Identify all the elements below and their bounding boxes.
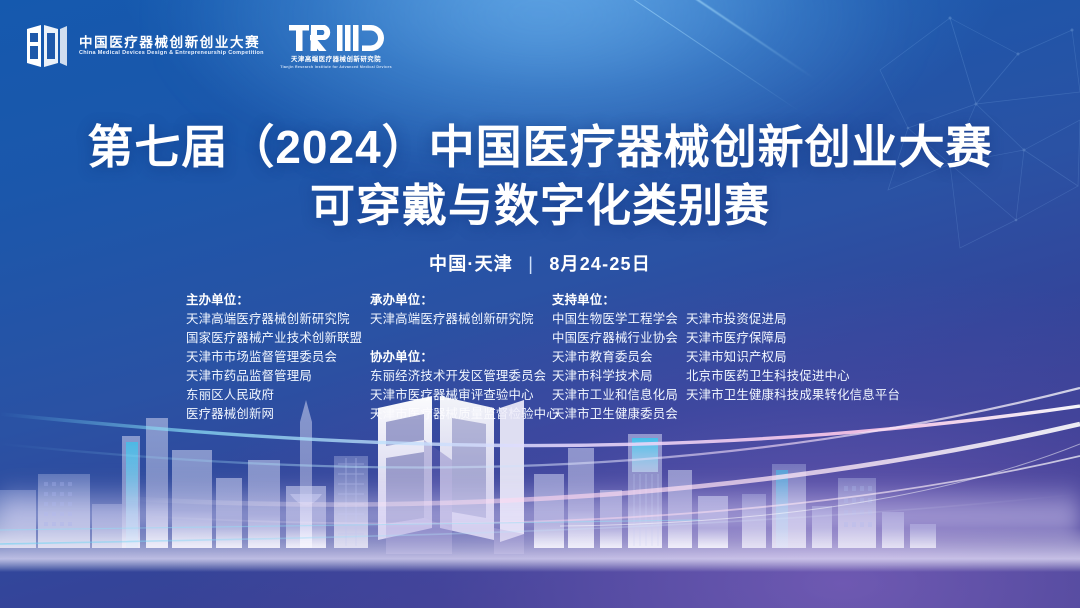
open-door-logo-mark: [24, 23, 70, 69]
meta-location: 中国·天津: [429, 254, 513, 274]
competition-logo-cn: 中国医疗器械创新创业大赛: [79, 36, 260, 50]
competition-logo: 中国医疗器械创新创业大赛 China Medical Devices Desig…: [24, 23, 260, 69]
org-item: 天津市医疗保障局: [686, 329, 900, 348]
institute-logo-en: Tianjin Research Institute for Advanced …: [280, 66, 392, 70]
organizations-block: 主办单位： 天津高端医疗器械创新研究院 国家医疗器械产业技术创新联盟 天津市市场…: [186, 291, 946, 424]
light-ray: [465, 0, 814, 79]
org-item: 天津市卫生健康委员会: [552, 405, 686, 424]
title-block: 第七届（2024）中国医疗器械创新创业大赛 可穿戴与数字化类别赛 中国·天津 |…: [0, 118, 1080, 276]
org-item: 天津市科学技术局: [552, 367, 686, 386]
org-item: 医疗器械创新网: [186, 405, 370, 424]
org-column-support-a: 支持单位： 中国生物医学工程学会 中国医疗器械行业协会 天津市教育委员会 天津市…: [552, 291, 686, 424]
org-item: 东丽经济技术开发区管理委员会: [370, 367, 552, 386]
org-column-support-b: 天津市投资促进局 天津市医疗保障局 天津市知识产权局 北京市医药卫生科技促进中心…: [686, 291, 900, 405]
org-item: 中国医疗器械行业协会: [552, 329, 686, 348]
org-column-organizer: 承办单位： 天津高端医疗器械创新研究院 协办单位： 东丽经济技术开发区管理委员会…: [370, 291, 552, 424]
org-item: 中国生物医学工程学会: [552, 310, 686, 329]
org-item: 天津市医疗器械质量监督检验中心: [370, 405, 552, 424]
meta-date: 8月24-25日: [549, 254, 651, 274]
poster-root: 中国医疗器械创新创业大赛 China Medical Devices Desig…: [0, 0, 1080, 608]
spacer: [370, 329, 552, 348]
light-ray: [500, 0, 799, 112]
org-heading: 支持单位：: [552, 291, 686, 310]
org-heading: 主办单位：: [186, 291, 370, 310]
org-item: 天津市教育委员会: [552, 348, 686, 367]
org-item: 天津高端医疗器械创新研究院: [186, 310, 370, 329]
org-item: 天津市市场监督管理委员会: [186, 348, 370, 367]
org-item: 北京市医药卫生科技促进中心: [686, 367, 900, 386]
org-item: 天津市投资促进局: [686, 310, 900, 329]
org-column-host: 主办单位： 天津高端医疗器械创新研究院 国家医疗器械产业技术创新联盟 天津市市场…: [186, 291, 370, 424]
trimd-wordmark-icon: [288, 22, 384, 54]
logo-bar: 中国医疗器械创新创业大赛 China Medical Devices Desig…: [24, 22, 392, 70]
poster-title-line1: 第七届（2024）中国医疗器械创新创业大赛: [0, 118, 1080, 177]
org-item: 天津市医疗器械审评查验中心: [370, 386, 552, 405]
org-item: 国家医疗器械产业技术创新联盟: [186, 329, 370, 348]
org-heading: 承办单位：: [370, 291, 552, 310]
competition-logo-en: China Medical Devices Design & Entrepren…: [79, 51, 264, 56]
org-item: 天津市工业和信息化局: [552, 386, 686, 405]
spacer: [686, 291, 900, 310]
org-item: 天津市药品监督管理局: [186, 367, 370, 386]
ground-glow: [0, 480, 1080, 550]
meta-separator: |: [528, 254, 534, 275]
poster-title-line2: 可穿戴与数字化类别赛: [0, 177, 1080, 235]
org-heading: 协办单位：: [370, 348, 552, 367]
institute-logo: 天津高端医疗器械创新研究院 Tianjin Research Institute…: [280, 22, 392, 70]
institute-logo-cn: 天津高端医疗器械创新研究院: [291, 57, 381, 63]
meta-line: 中国·天津 | 8月24-25日: [0, 250, 1080, 276]
org-item: 天津高端医疗器械创新研究院: [370, 310, 552, 329]
org-item: 东丽区人民政府: [186, 386, 370, 405]
org-item: 天津市知识产权局: [686, 348, 900, 367]
org-item: 天津市卫生健康科技成果转化信息平台: [686, 386, 900, 405]
